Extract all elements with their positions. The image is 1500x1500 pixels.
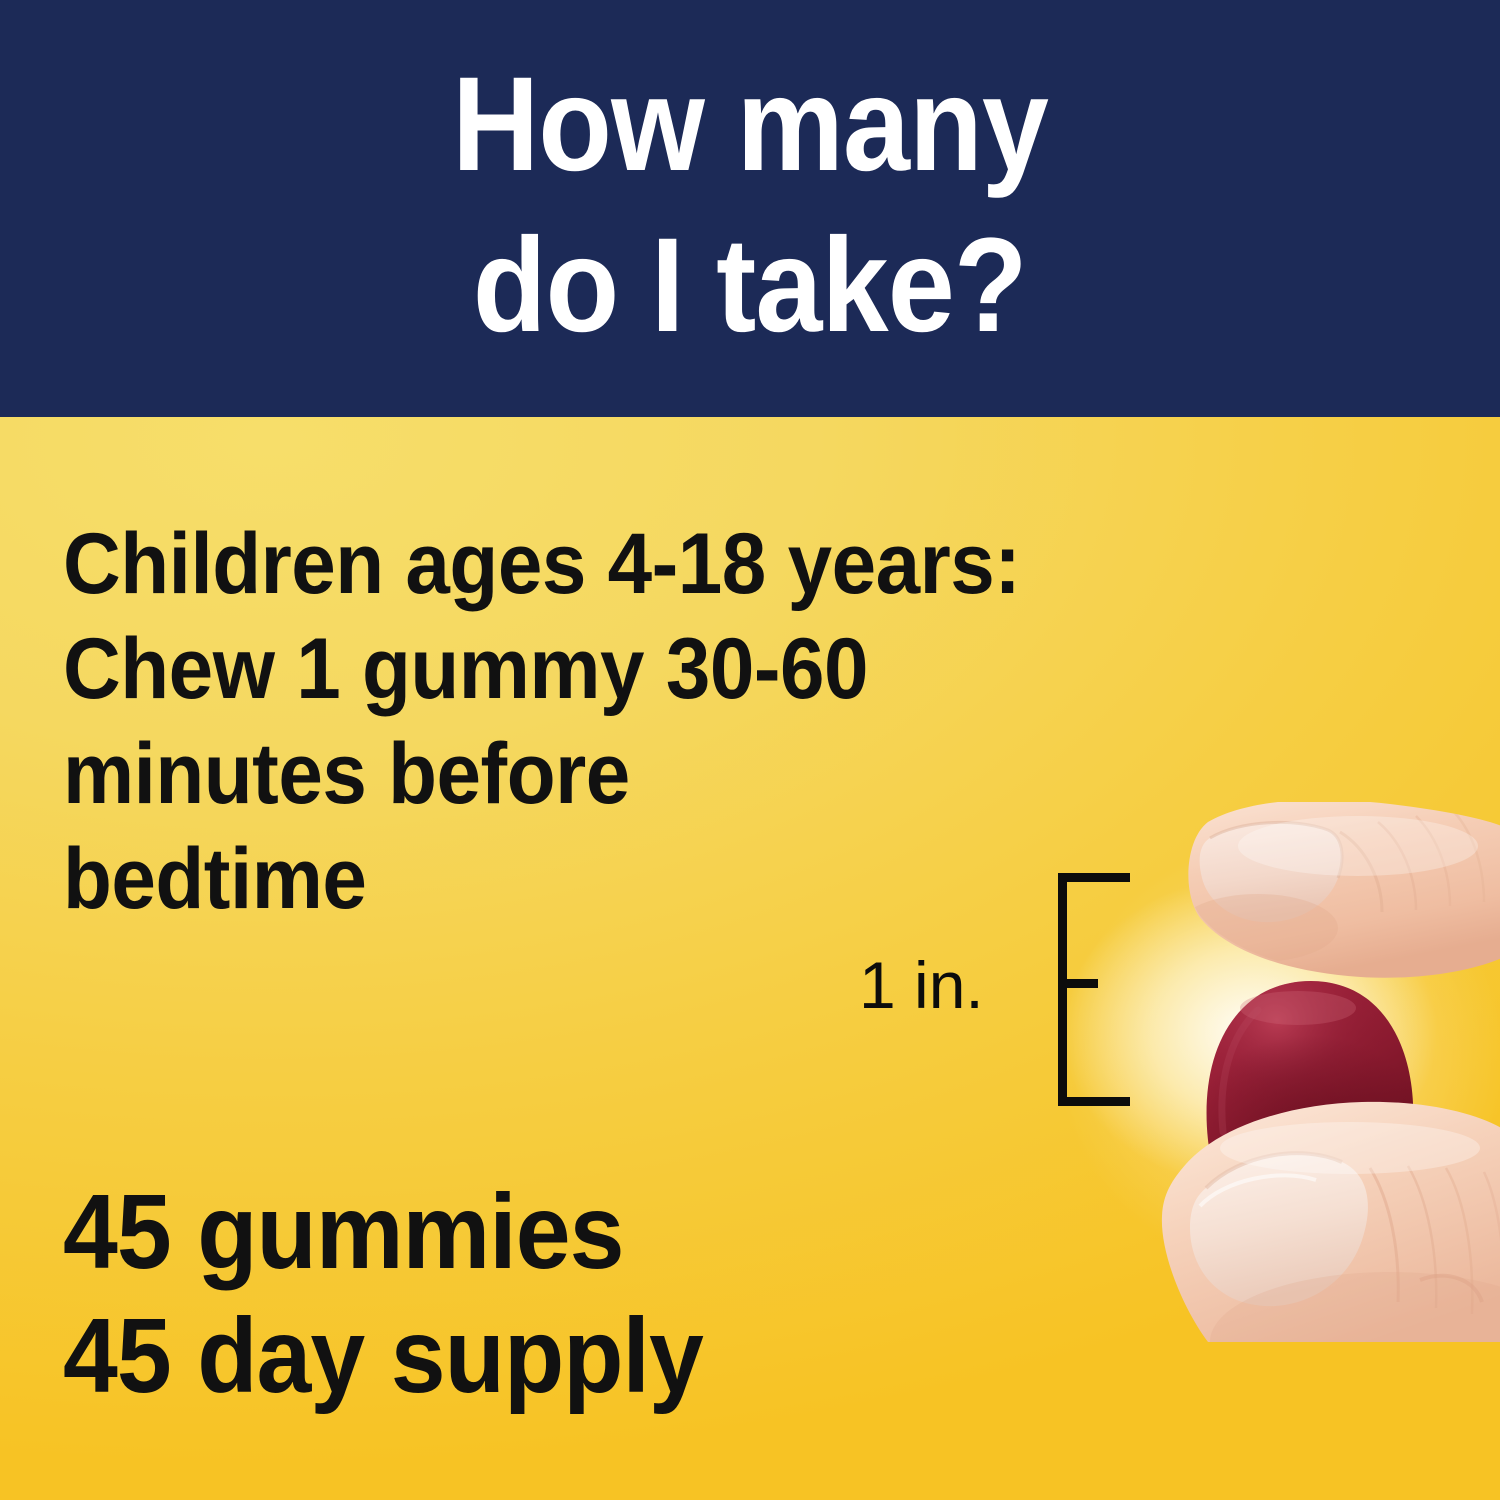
gummy-in-fingers-image (1090, 802, 1500, 1342)
size-label: 1 in. (859, 952, 984, 1018)
dosage-line-2: Chew 1 gummy 30-60 (63, 617, 1160, 722)
dosage-line-3: minutes before (63, 722, 1160, 827)
supply-count: 45 gummies 45 day supply (63, 1170, 1163, 1418)
content-panel: Children ages 4-18 years: Chew 1 gummy 3… (0, 417, 1500, 1500)
page-title-line-1: How many (452, 45, 1048, 206)
index-finger-icon (1178, 802, 1500, 978)
header-banner: How many do I take? (0, 0, 1500, 417)
supply-line-2: 45 day supply (63, 1294, 1086, 1418)
dosage-line-1: Children ages 4-18 years: (63, 512, 1160, 617)
product-info-graphic: How many do I take? Children ages 4-18 y… (0, 0, 1500, 1500)
supply-line-1: 45 gummies (63, 1170, 1086, 1294)
page-title-line-2: do I take? (473, 206, 1027, 367)
